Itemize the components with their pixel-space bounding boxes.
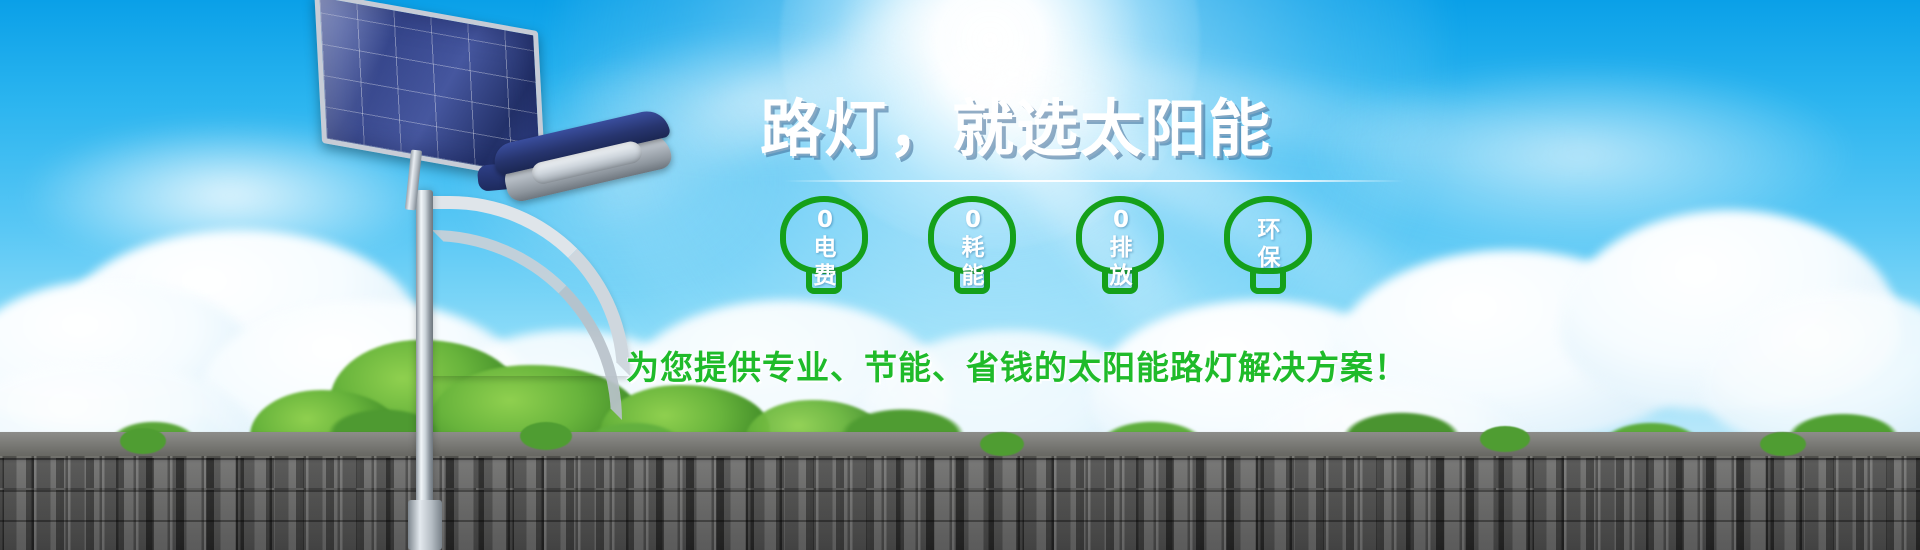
feature-badge[interactable]: 0 排 放	[1066, 196, 1176, 301]
tile-roof-wall	[0, 432, 1920, 550]
feature-badge[interactable]: 0 电 费	[770, 196, 880, 301]
vine-leaf	[120, 428, 166, 454]
badge-zero: 0	[1066, 206, 1176, 234]
tile-row	[0, 520, 1920, 550]
badge-text: 0 排 放	[1066, 206, 1176, 290]
lamp-pole	[416, 190, 433, 550]
tile-row	[0, 458, 1920, 488]
banner-tagline: 为您提供专业、节能、省钱的太阳能路灯解决方案！	[626, 348, 1226, 388]
badge-line1: 排	[1066, 234, 1176, 262]
feature-badge-list: 0 电 费 0 耗 能 0 排 放	[770, 196, 1420, 301]
badge-text: 0 耗 能	[918, 206, 1028, 290]
solar-street-lamp-banner: 路灯，就选太阳能 0 电 费 0 耗 能 0	[0, 0, 1920, 550]
page-title: 路灯，就选太阳能	[760, 96, 1230, 162]
feature-badge[interactable]: 环 保	[1214, 196, 1324, 301]
badge-line2: 费	[770, 262, 880, 290]
badge-line2: 保	[1214, 244, 1324, 272]
vine-leaf	[1480, 426, 1530, 452]
vine-leaf	[1760, 432, 1806, 456]
badge-zero: 0	[918, 206, 1028, 234]
badge-zero: 0	[770, 206, 880, 234]
feature-badge[interactable]: 0 耗 能	[918, 196, 1028, 301]
badge-text: 环 保	[1214, 216, 1324, 272]
badge-line2: 放	[1066, 262, 1176, 290]
badge-text: 0 电 费	[770, 206, 880, 290]
badge-line1: 电	[770, 234, 880, 262]
badge-line1: 环	[1214, 216, 1324, 244]
divider	[784, 180, 1404, 182]
badge-line1: 耗	[918, 234, 1028, 262]
tile-row	[0, 490, 1920, 520]
vine-leaf	[980, 432, 1024, 456]
solar-street-lamp	[300, 0, 720, 550]
badge-line2: 能	[918, 262, 1028, 290]
lamp-pole-base	[408, 500, 442, 550]
